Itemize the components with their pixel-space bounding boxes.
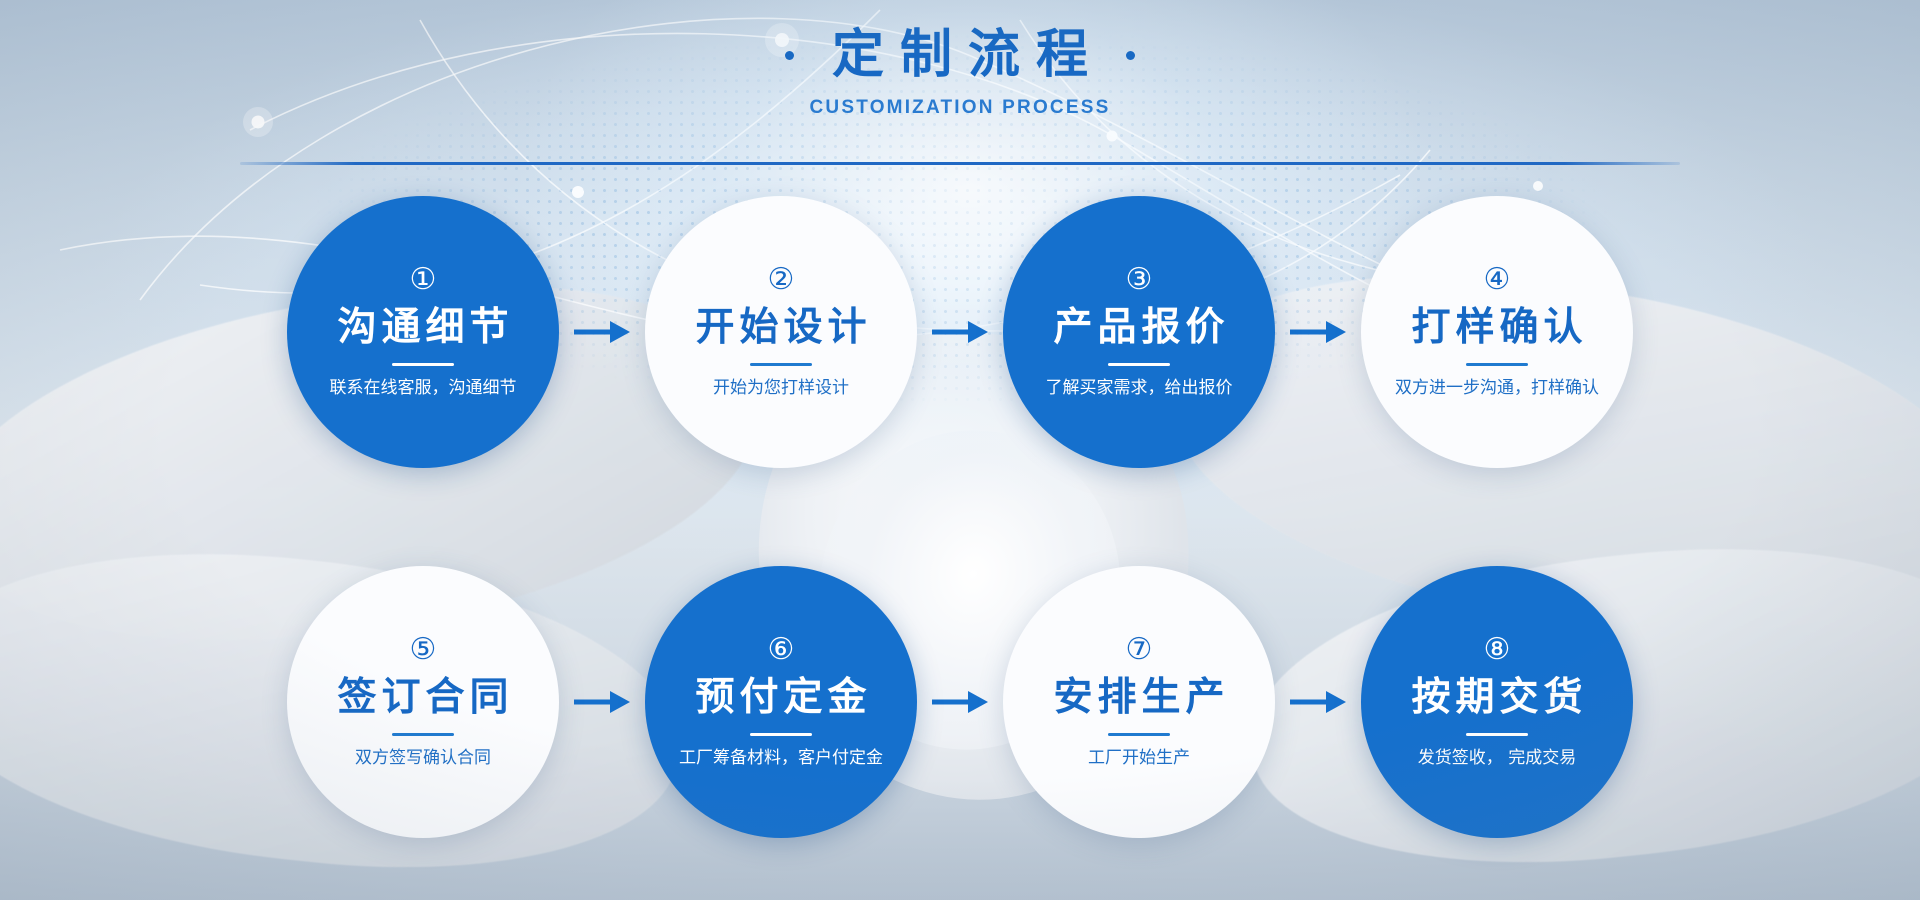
step-title: 开始设计 — [690, 307, 871, 350]
step-divider — [1108, 733, 1170, 736]
process-row-bottom: ⑤ 签订合同 双方签写确认合同 ⑥ 预付定金 工厂筹备材料，客户付定金 — [0, 566, 1920, 838]
process-step-6[interactable]: ⑥ 预付定金 工厂筹备材料，客户付定金 — [645, 566, 917, 838]
page-title: 定制流程 — [816, 28, 1104, 83]
step-number: ⑧ — [1484, 635, 1511, 665]
step-divider — [1108, 363, 1170, 366]
process-row-top: ① 沟通细节 联系在线客服，沟通细节 ② 开始设计 开始为您打样设计 — [0, 196, 1920, 468]
step-number: ③ — [1126, 265, 1153, 295]
step-description: 双方进一步沟通，打样确认 — [1395, 378, 1599, 398]
process-step-8[interactable]: ⑧ 按期交货 发货签收， 完成交易 — [1361, 566, 1633, 838]
arrow-right-icon — [1275, 667, 1361, 737]
title-dot-right — [1126, 51, 1135, 60]
banner-header: 定制流程 CUSTOMIZATION PROCESS — [0, 28, 1920, 119]
step-title: 产品报价 — [1048, 307, 1229, 350]
step-number: ⑦ — [1126, 635, 1153, 665]
process-step-2[interactable]: ② 开始设计 开始为您打样设计 — [645, 196, 917, 468]
step-description: 工厂开始生产 — [1088, 748, 1190, 768]
step-number: ① — [410, 265, 437, 295]
arrow-right-icon — [1275, 297, 1361, 367]
step-description: 双方签写确认合同 — [355, 748, 491, 768]
step-description: 联系在线客服，沟通细节 — [330, 378, 517, 398]
step-description: 了解买家需求，给出报价 — [1046, 378, 1233, 398]
title-dot-left — [785, 51, 794, 60]
step-title: 按期交货 — [1406, 677, 1587, 720]
process-step-4[interactable]: ④ 打样确认 双方进一步沟通，打样确认 — [1361, 196, 1633, 468]
step-title: 安排生产 — [1048, 677, 1229, 720]
step-divider — [392, 363, 454, 366]
step-description: 工厂筹备材料，客户付定金 — [679, 748, 883, 768]
customization-process-banner: 定制流程 CUSTOMIZATION PROCESS ① 沟通细节 联系在线客服… — [0, 0, 1920, 900]
arrow-right-icon — [559, 297, 645, 367]
step-divider — [750, 363, 812, 366]
page-subtitle: CUSTOMIZATION PROCESS — [0, 97, 1920, 119]
step-title: 签订合同 — [332, 677, 513, 720]
process-steps: ① 沟通细节 联系在线客服，沟通细节 ② 开始设计 开始为您打样设计 — [0, 196, 1920, 838]
step-description: 发货签收， 完成交易 — [1418, 748, 1576, 768]
arrow-right-icon — [917, 297, 1003, 367]
step-number: ④ — [1484, 265, 1511, 295]
arrow-right-icon — [917, 667, 1003, 737]
process-step-5[interactable]: ⑤ 签订合同 双方签写确认合同 — [287, 566, 559, 838]
arrow-right-icon — [559, 667, 645, 737]
header-divider — [240, 162, 1680, 165]
step-divider — [750, 733, 812, 736]
step-title: 打样确认 — [1406, 307, 1587, 350]
process-step-3[interactable]: ③ 产品报价 了解买家需求，给出报价 — [1003, 196, 1275, 468]
step-title: 沟通细节 — [332, 307, 513, 350]
process-step-7[interactable]: ⑦ 安排生产 工厂开始生产 — [1003, 566, 1275, 838]
step-number: ⑥ — [768, 635, 795, 665]
process-step-1[interactable]: ① 沟通细节 联系在线客服，沟通细节 — [287, 196, 559, 468]
step-number: ② — [768, 265, 795, 295]
step-title: 预付定金 — [690, 677, 871, 720]
step-divider — [1466, 363, 1528, 366]
step-divider — [392, 733, 454, 736]
step-description: 开始为您打样设计 — [713, 378, 849, 398]
step-number: ⑤ — [410, 635, 437, 665]
step-divider — [1466, 733, 1528, 736]
